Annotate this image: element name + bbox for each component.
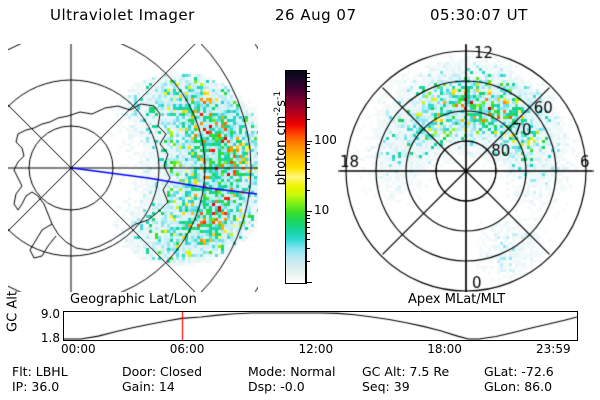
alt-xtick-0: 00:00 xyxy=(61,342,96,356)
status-label: IP: xyxy=(12,379,27,394)
observation-time: 05:30:07 UT xyxy=(430,6,528,24)
status-label: GLat: xyxy=(484,364,517,379)
status-value: 14 xyxy=(155,379,175,394)
colorbar-minor-tick xyxy=(306,148,310,149)
colorbar-label-10: 10 xyxy=(314,204,329,216)
status-value: 7.5 Re xyxy=(406,364,450,379)
status-value: 86.0 xyxy=(520,379,552,394)
colorbar-minor-tick xyxy=(306,144,310,145)
colorbar-minor-tick xyxy=(306,156,310,157)
colorbar-unit-exp1: -2 xyxy=(273,107,283,116)
status-label: GLon: xyxy=(484,379,520,394)
colorbar-minor-tick xyxy=(306,218,310,219)
status-field-glat: GLat: -72.6 xyxy=(484,364,554,379)
status-value: LBHL xyxy=(32,364,68,379)
status-label: GC Alt: xyxy=(362,364,406,379)
alt-track-curve xyxy=(64,312,577,340)
alt-plot-box xyxy=(63,311,578,341)
alt-xtick-1: 06:00 xyxy=(170,342,205,356)
colorbar-minor-tick xyxy=(306,107,310,108)
alt-ytick-high: 9.0 xyxy=(41,307,60,321)
colorbar-minor-tick xyxy=(306,261,310,262)
colorbar-minor-tick xyxy=(306,233,310,234)
colorbar-minor-tick xyxy=(306,239,310,240)
status-field-flt: Flt: LBHL xyxy=(12,364,68,379)
status-field-glon: GLon: 86.0 xyxy=(484,379,552,394)
status-label: Seq: xyxy=(362,379,390,394)
alt-xtick-2: 12:00 xyxy=(299,342,334,356)
colorbar-minor-tick xyxy=(306,73,310,74)
colorbar-axis xyxy=(305,70,306,284)
colorbar-minor-tick xyxy=(306,152,310,153)
geographic-polar-image xyxy=(8,44,258,292)
colorbar-unit-exp2: -1 xyxy=(273,91,283,100)
colorbar-minor-tick xyxy=(306,248,310,249)
status-label: Door: xyxy=(122,364,156,379)
status-value: 36.0 xyxy=(27,379,59,394)
colorbar-label-100: 100 xyxy=(314,134,337,146)
observation-date: 26 Aug 07 xyxy=(275,6,357,24)
uvi-display: Ultraviolet Imager 26 Aug 07 05:30:07 UT… xyxy=(0,0,600,400)
status-value: 39 xyxy=(390,379,410,394)
status-label: Flt: xyxy=(12,364,32,379)
status-field-seq: Seq: 39 xyxy=(362,379,410,394)
colorbar-minor-tick xyxy=(306,91,310,92)
alt-xtick-3: 18:00 xyxy=(427,342,462,356)
colorbar-minor-tick xyxy=(306,77,310,78)
colorbar-major-tick xyxy=(306,282,312,283)
colorbar-minor-tick xyxy=(306,222,310,223)
header: Ultraviolet Imager 26 Aug 07 05:30:07 UT xyxy=(0,6,600,34)
colorbar-minor-tick xyxy=(306,86,310,87)
colorbar-minor-tick xyxy=(306,190,310,191)
colorbar-minor-tick xyxy=(306,178,310,179)
status-value: Normal xyxy=(286,364,335,379)
status-field-gc-alt: GC Alt: 7.5 Re xyxy=(362,364,449,379)
status-label: Mode: xyxy=(248,364,286,379)
status-bar: Flt: LBHLDoor: ClosedMode: NormalGC Alt:… xyxy=(0,364,600,398)
colorbar-minor-tick xyxy=(306,169,310,170)
colorbar-minor-tick xyxy=(306,119,310,120)
alt-x-ticks: 00:0006:0012:0018:0023:59 xyxy=(0,342,600,358)
status-value: -0.0 xyxy=(276,379,304,394)
mlt-dial-image xyxy=(338,44,594,292)
instrument-title: Ultraviolet Imager xyxy=(50,6,195,24)
status-label: Dsp: xyxy=(248,379,276,394)
status-value: Closed xyxy=(156,364,202,379)
colorbar-major-tick xyxy=(306,141,312,142)
colorbar-gradient xyxy=(285,70,307,284)
panel-title-apex: Apex MLat/MLT xyxy=(408,292,505,307)
colorbar-minor-tick xyxy=(306,215,310,216)
status-field-mode: Mode: Normal xyxy=(248,364,335,379)
alt-xtick-4: 23:59 xyxy=(536,342,571,356)
status-field-ip: IP: 36.0 xyxy=(12,379,59,394)
colorbar: photon cm-2s-1 100 10 xyxy=(262,62,340,290)
colorbar-major-tick xyxy=(306,211,312,212)
status-field-dsp: Dsp: -0.0 xyxy=(248,379,305,394)
colorbar-minor-tick xyxy=(306,227,310,228)
status-field-door: Door: Closed xyxy=(122,364,202,379)
panel-title-geographic: Geographic Lat/Lon xyxy=(70,292,197,307)
colorbar-minor-tick xyxy=(306,162,310,163)
alt-y-ticks: 9.0 1.8 xyxy=(18,311,60,343)
status-value: -72.6 xyxy=(517,364,553,379)
colorbar-minor-tick xyxy=(306,98,310,99)
status-label: Gain: xyxy=(122,379,155,394)
orbit-altitude-panel: Geographic Lat/Lon Apex MLat/MLT GC Alt … xyxy=(0,292,600,358)
colorbar-minor-tick xyxy=(306,81,310,82)
status-field-gain: Gain: 14 xyxy=(122,379,175,394)
